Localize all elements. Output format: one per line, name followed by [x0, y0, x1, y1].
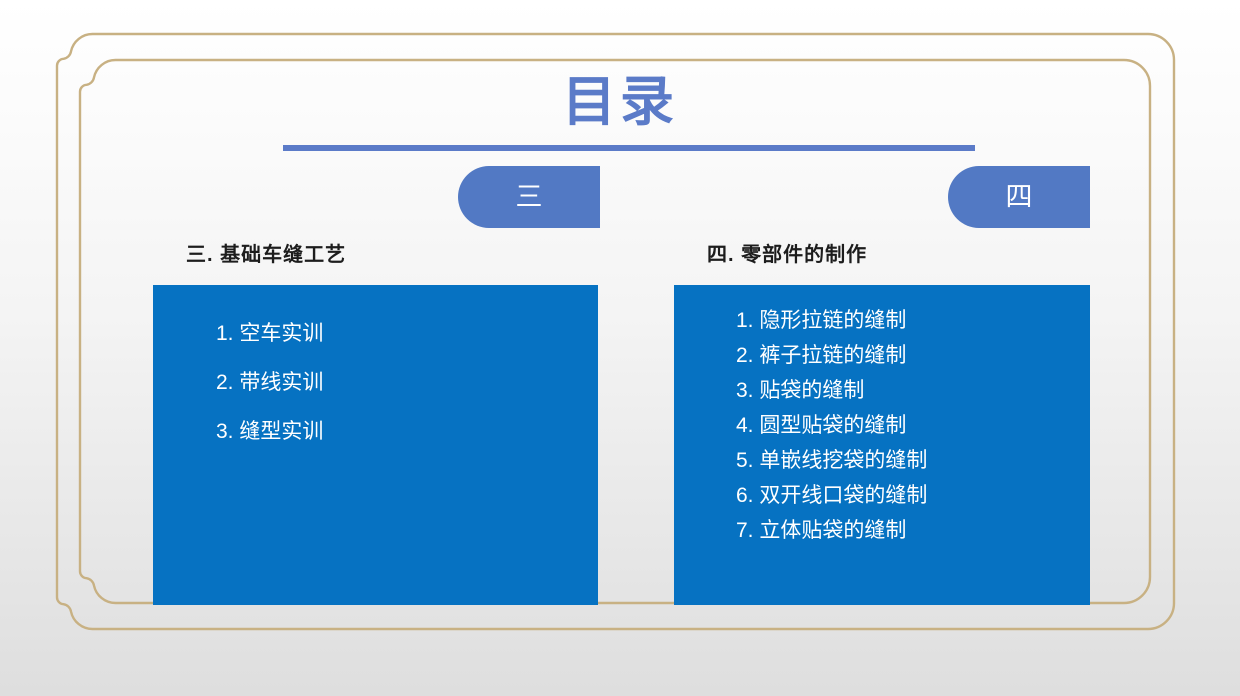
list-item[interactable]: 3. 缝型实训 — [216, 421, 598, 442]
list-item[interactable]: 1. 空车实训 — [216, 323, 598, 344]
list-item[interactable]: 2. 裤子拉链的缝制 — [736, 345, 1090, 366]
list-item[interactable]: 6. 双开线口袋的缝制 — [736, 485, 1090, 506]
tab-four[interactable]: 四 — [948, 166, 1090, 228]
section-heading-component-making: 四. 零部件的制作 — [707, 238, 867, 267]
section-heading-basic-sewing: 三. 基础车缝工艺 — [186, 238, 346, 267]
list-item[interactable]: 1. 隐形拉链的缝制 — [736, 310, 1090, 331]
list-item[interactable]: 3. 贴袋的缝制 — [736, 380, 1090, 401]
presentation-slide: 目录 三 四 三. 基础车缝工艺 1. 空车实训 2. 带线实训 3. 缝型实训… — [0, 0, 1240, 696]
panel-component-making: 1. 隐形拉链的缝制 2. 裤子拉链的缝制 3. 贴袋的缝制 4. 圆型贴袋的缝… — [674, 285, 1090, 605]
panel-basic-sewing: 1. 空车实训 2. 带线实训 3. 缝型实训 — [153, 285, 598, 605]
page-title: 目录 — [0, 72, 1240, 132]
list-basic-sewing: 1. 空车实训 2. 带线实训 3. 缝型实训 — [153, 323, 598, 442]
list-item[interactable]: 7. 立体贴袋的缝制 — [736, 520, 1090, 541]
title-underline-rule — [283, 145, 975, 151]
tab-three[interactable]: 三 — [458, 166, 600, 228]
list-item[interactable]: 2. 带线实训 — [216, 372, 598, 393]
list-component-making: 1. 隐形拉链的缝制 2. 裤子拉链的缝制 3. 贴袋的缝制 4. 圆型贴袋的缝… — [674, 310, 1090, 541]
list-item[interactable]: 5. 单嵌线挖袋的缝制 — [736, 450, 1090, 471]
list-item[interactable]: 4. 圆型贴袋的缝制 — [736, 415, 1090, 436]
